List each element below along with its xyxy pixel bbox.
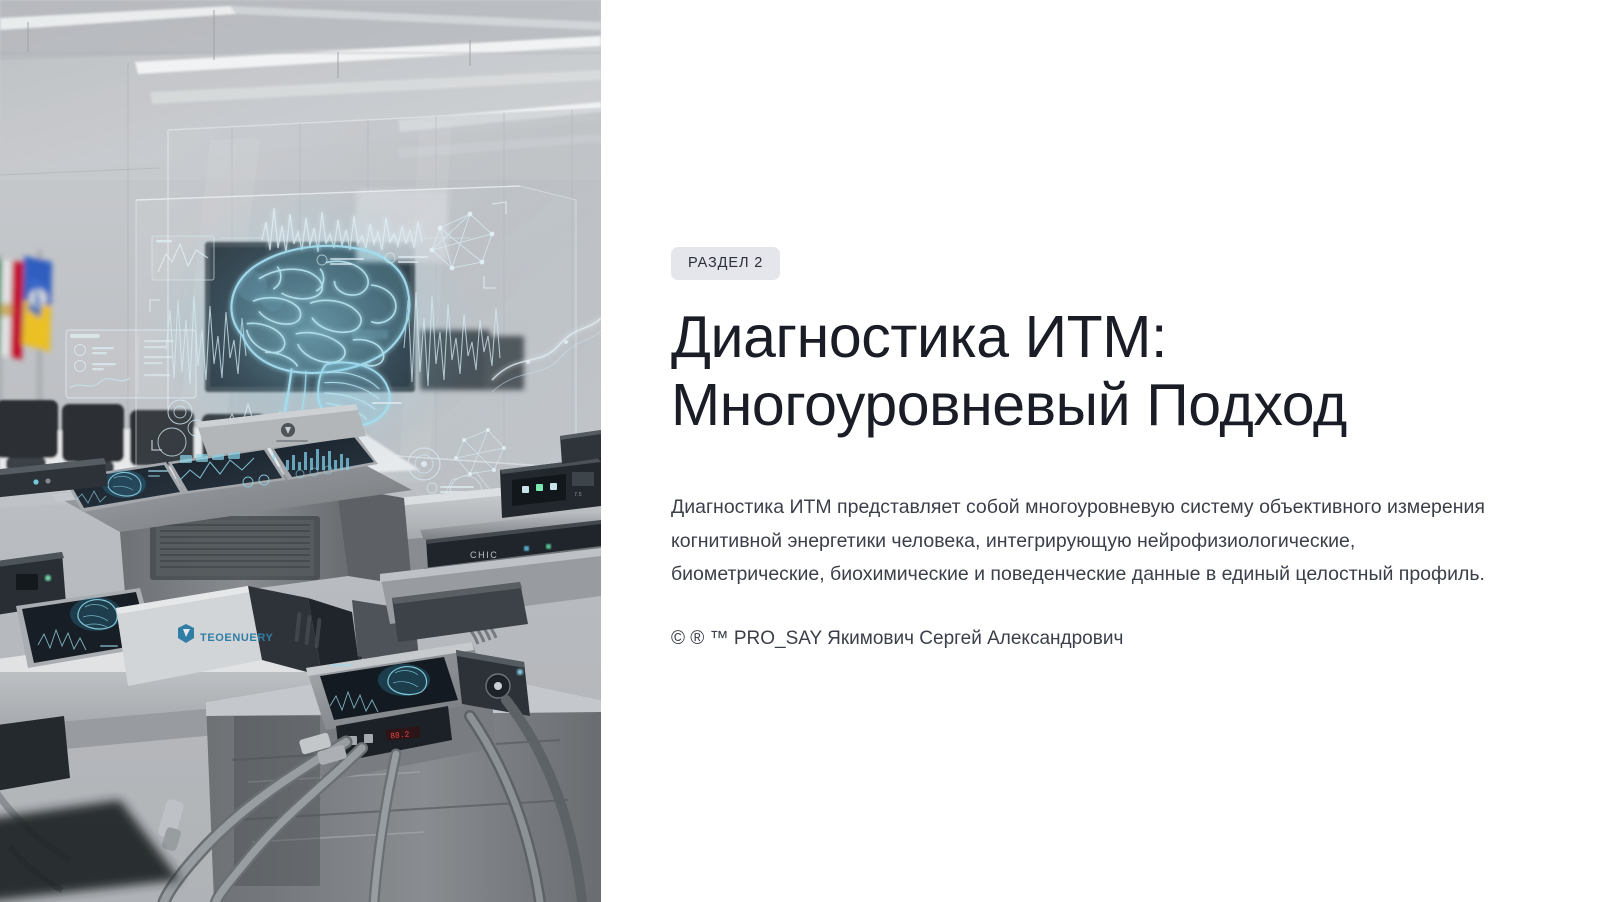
copyright-line: © ® ™ PRO_SAY Якимович Сергей Александро… xyxy=(671,625,1600,654)
lab-photo-panel: CHIC 7.5 xyxy=(0,0,601,902)
lab-scene-illustration: CHIC 7.5 xyxy=(0,0,601,902)
slide-root: CHIC 7.5 xyxy=(0,0,1600,902)
page-title-line-1: Диагностика ИТМ: xyxy=(671,303,1511,371)
page-title: Диагностика ИТМ: Многоуровневый Подход xyxy=(671,303,1511,440)
page-title-line-2: Многоуровневый Подход xyxy=(671,371,1511,439)
body-paragraph: Диагностика ИТМ представляет собой много… xyxy=(671,491,1501,592)
content-panel: РАЗДЕЛ 2 Диагностика ИТМ: Многоуровневый… xyxy=(601,0,1600,902)
section-badge: РАЗДЕЛ 2 xyxy=(671,247,780,280)
